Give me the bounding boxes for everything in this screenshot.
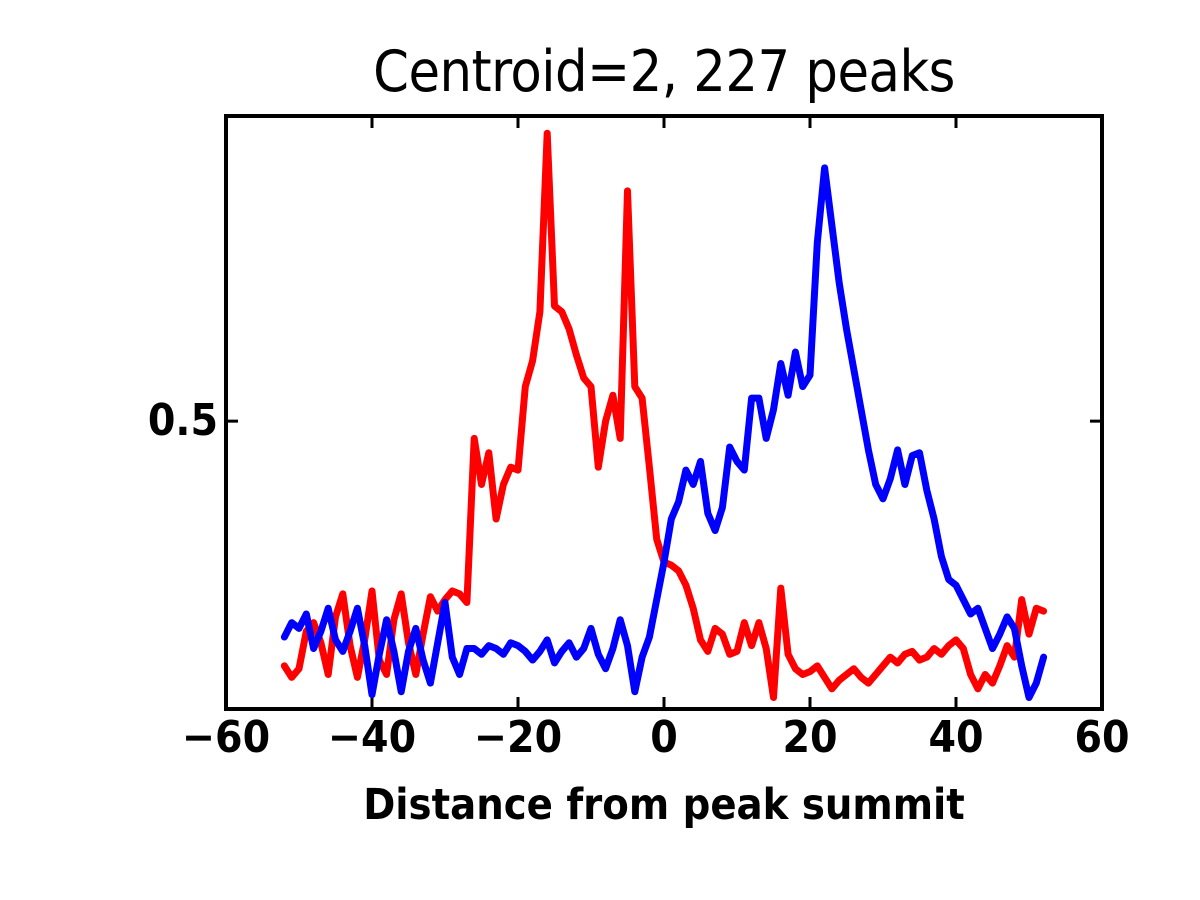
x-tick-label: 20: [782, 716, 837, 760]
data-series-reverse-strand-5-prime-ends: [284, 168, 1043, 698]
y-tick-label: 0.5: [148, 399, 218, 443]
y-axis-label: Average read 5'-end count: [0, 0, 62, 124]
chart-figure: Centroid=2, 227 peaks −60−40−200204060 0…: [0, 0, 1200, 900]
x-tick-label: 40: [928, 716, 983, 760]
x-tick-label: −40: [328, 716, 416, 760]
x-tick-label: 60: [1074, 716, 1129, 760]
x-axis-label: Distance from peak summit: [226, 784, 1102, 827]
data-series-forward-strand-5-prime-ends: [284, 133, 1043, 697]
y-axis-tick-labels: 0.5: [0, 0, 218, 900]
x-tick-label: −20: [474, 716, 562, 760]
data-series-group: [284, 133, 1043, 697]
x-tick-label: 0: [650, 716, 678, 760]
